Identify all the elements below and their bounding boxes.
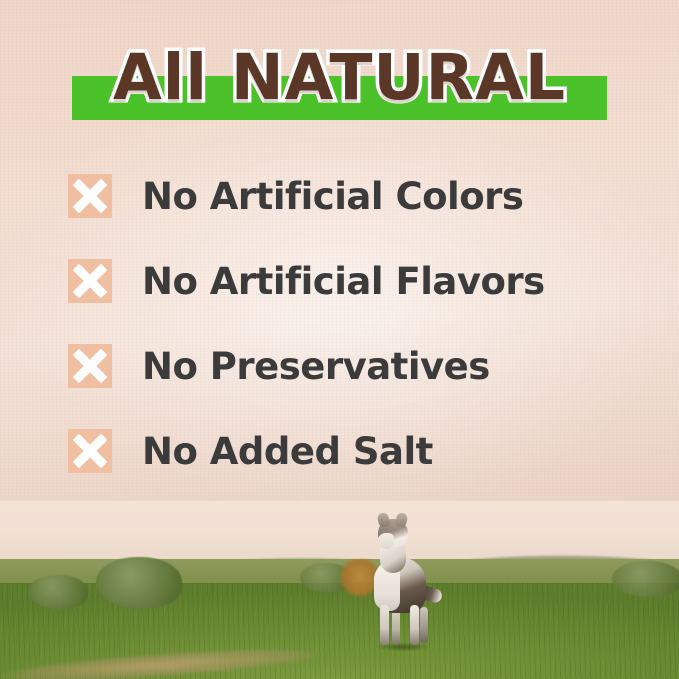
dog-leg xyxy=(410,605,419,645)
dog-leg xyxy=(380,605,389,645)
claim-label: No Preservatives xyxy=(142,345,490,388)
list-item: No Artificial Flavors xyxy=(68,251,628,311)
claim-label: No Artificial Colors xyxy=(142,175,523,218)
x-mark-icon xyxy=(68,429,112,473)
x-mark-icon xyxy=(68,344,112,388)
dog-leg xyxy=(420,607,428,643)
list-item: No Added Salt xyxy=(68,421,628,481)
dog-shadow xyxy=(366,641,440,653)
claim-label: No Added Salt xyxy=(142,430,433,473)
claim-label: No Artificial Flavors xyxy=(142,260,545,303)
list-item: No Artificial Colors xyxy=(68,166,628,226)
list-item: No Preservatives xyxy=(68,336,628,396)
photo-top-fade xyxy=(0,501,679,553)
landscape-photo xyxy=(0,501,679,679)
bush xyxy=(96,557,182,609)
page-title: All NATURAL xyxy=(0,46,679,109)
claims-list: No Artificial Colors No Artificial Flavo… xyxy=(68,166,628,506)
x-mark-icon xyxy=(68,174,112,218)
x-mark-icon xyxy=(68,259,112,303)
bush xyxy=(28,575,88,609)
bush xyxy=(612,561,679,597)
product-claim-poster: All NATURAL No Artificial Colors No Arti… xyxy=(0,0,679,679)
